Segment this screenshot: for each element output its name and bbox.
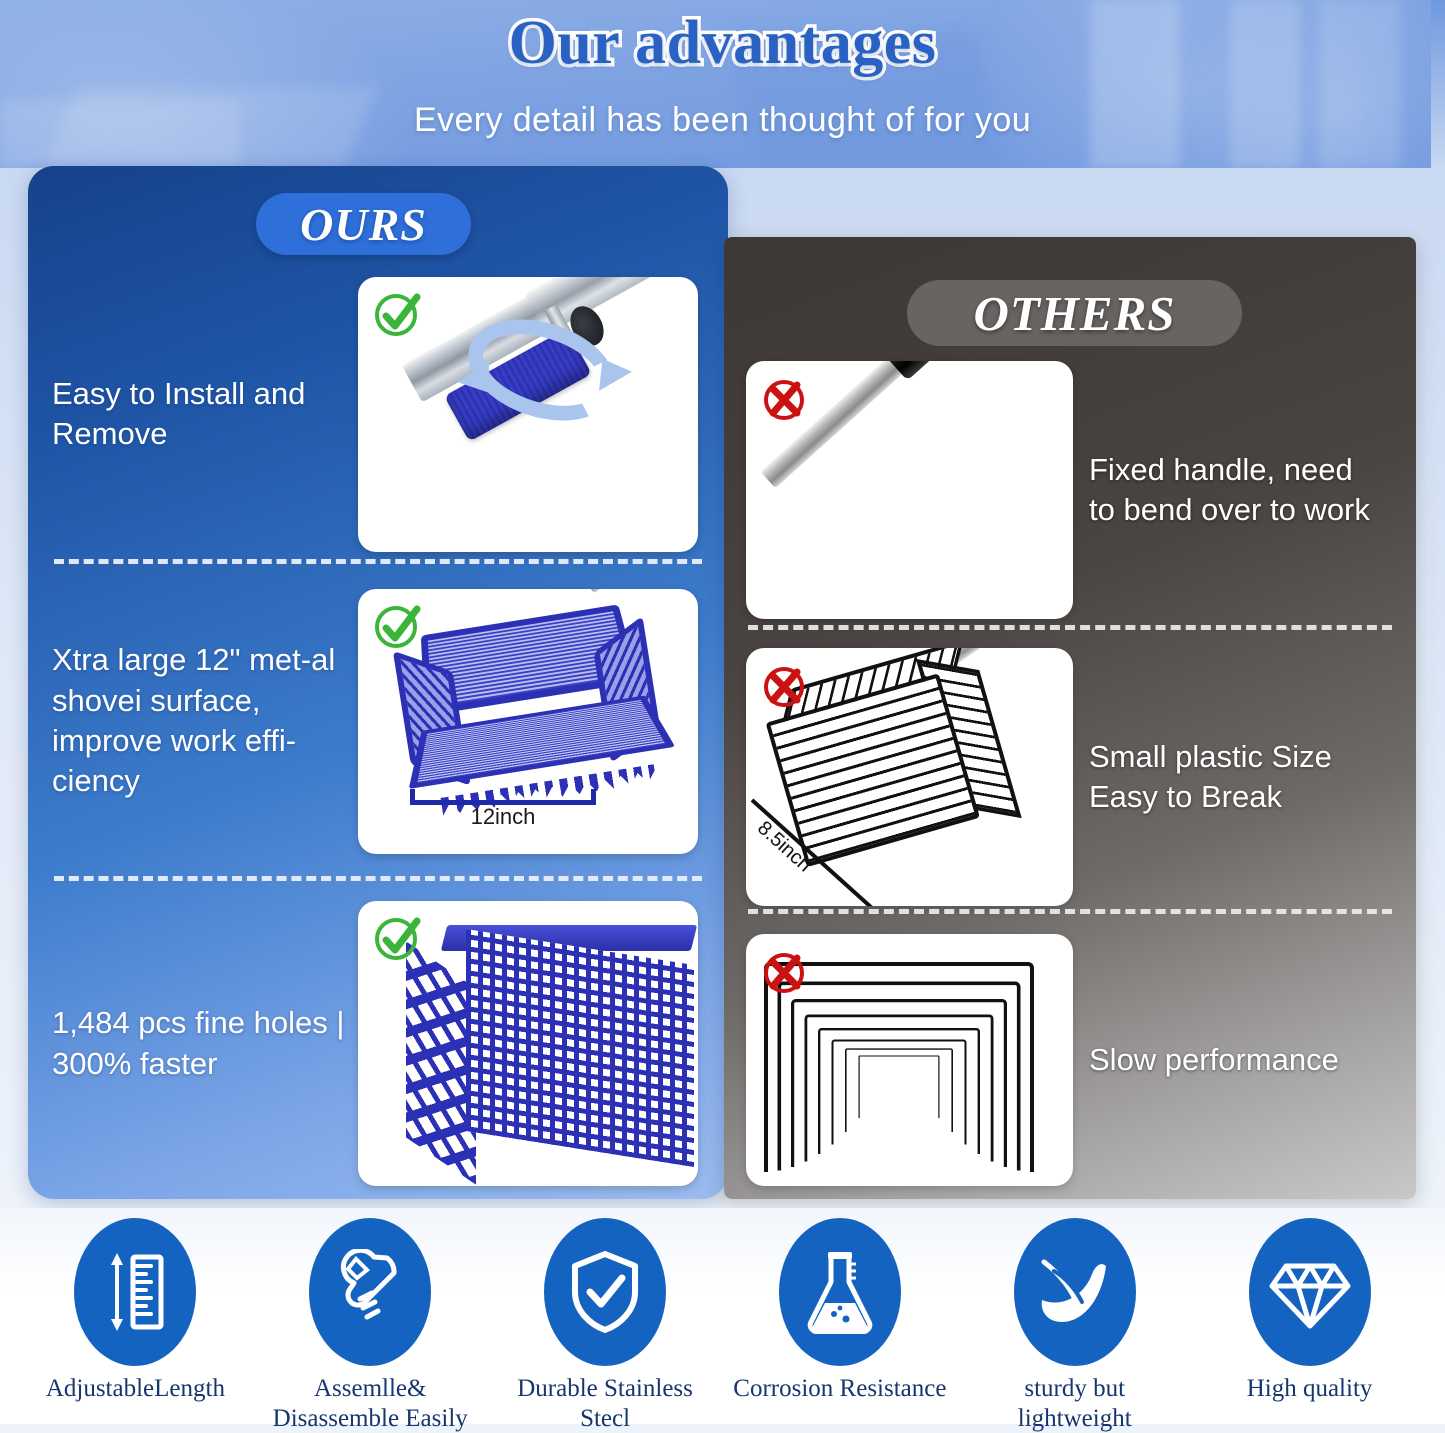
others-divider-1 (748, 625, 1392, 630)
red-cross-icon (760, 660, 812, 712)
wrench-hand-icon (309, 1218, 431, 1366)
ruler-icon (74, 1218, 196, 1366)
ours-dimension-label: 12inch (410, 804, 596, 830)
red-cross-icon (760, 373, 812, 425)
others-row-2-text: Small plastic Size Easy to Break (1089, 737, 1379, 818)
wire-rake-photo (746, 934, 1073, 1186)
ours-row-1: Easy to Install and Remove (52, 274, 712, 554)
flask-icon (779, 1218, 901, 1366)
feature-item-sturdy-lightweight: sturdy but lightweight (967, 1208, 1182, 1433)
others-badge: OTHERS (907, 280, 1242, 346)
red-cross-icon (760, 946, 812, 998)
feature-strip: AdjustableLength Assemlle& Disassemble E… (0, 1208, 1445, 1424)
green-check-icon (372, 913, 424, 965)
green-check-icon (372, 601, 424, 653)
ours-panel: OURS Easy to Install and Remove Xtra lar (28, 166, 728, 1199)
others-row-2: 8.5inch Small plastic Size Easy to Break (746, 647, 1396, 907)
feather-icon (1014, 1218, 1136, 1366)
quick-release-collar-photo (358, 277, 698, 552)
blue-metal-scoop-photo: 12inch (358, 589, 698, 854)
page-subtitle: Every detail has been thought of for you (0, 101, 1445, 140)
others-row-1: Fixed handle, need to bend over to work (746, 361, 1396, 619)
feature-label: Durable Stainless Stecl (498, 1374, 713, 1433)
small-wire-basket-photo: 8.5inch (746, 648, 1073, 906)
ours-row-2-text: Xtra large 12" met-al shovei surface, im… (52, 640, 352, 801)
feature-label: sturdy but lightweight (967, 1374, 1182, 1433)
diamond-icon (1249, 1218, 1371, 1366)
feature-item-high-quality: High quality (1202, 1208, 1417, 1404)
feature-label: Assemlle& Disassemble Easily (263, 1374, 478, 1433)
feature-item-corrosion-resistance: Corrosion Resistance (732, 1208, 947, 1404)
ours-divider-2 (54, 876, 702, 881)
ours-row-1-text: Easy to Install and Remove (52, 374, 352, 455)
ours-row-2: Xtra large 12" met-al shovei surface, im… (52, 586, 712, 856)
feature-item-assemble-disassemble: Assemlle& Disassemble Easily (263, 1208, 478, 1433)
others-row-3-text: Slow performance (1089, 1040, 1379, 1080)
shield-check-icon (544, 1218, 666, 1366)
right-edge-strip (1431, 0, 1445, 1208)
ours-row-3: 1,484 pcs fine holes | 300% faster (52, 901, 712, 1186)
others-row-1-text: Fixed handle, need to bend over to work (1089, 450, 1379, 531)
ours-row-3-text: 1,484 pcs fine holes | 300% faster (52, 1003, 352, 1084)
fine-mesh-closeup-photo (358, 901, 698, 1186)
others-divider-2 (748, 909, 1392, 914)
ours-badge: OURS (256, 193, 471, 255)
green-check-icon (372, 289, 424, 341)
feature-label: Corrosion Resistance (732, 1374, 947, 1404)
others-badge-label: OTHERS (973, 285, 1175, 342)
feature-item-durable-steel: Durable Stainless Stecl (498, 1208, 713, 1433)
page-title: Our advantages (0, 8, 1445, 79)
others-row-3: Slow performance (746, 931, 1396, 1189)
fixed-black-handle-photo (746, 361, 1073, 619)
others-panel: OTHERS Fixed handle, need to bend over t… (724, 237, 1416, 1199)
feature-label: AdjustableLength (28, 1374, 243, 1404)
feature-item-adjustable-length: AdjustableLength (28, 1208, 243, 1404)
ours-badge-label: OURS (300, 198, 427, 251)
feature-label: High quality (1202, 1374, 1417, 1404)
ours-divider-1 (54, 559, 702, 564)
